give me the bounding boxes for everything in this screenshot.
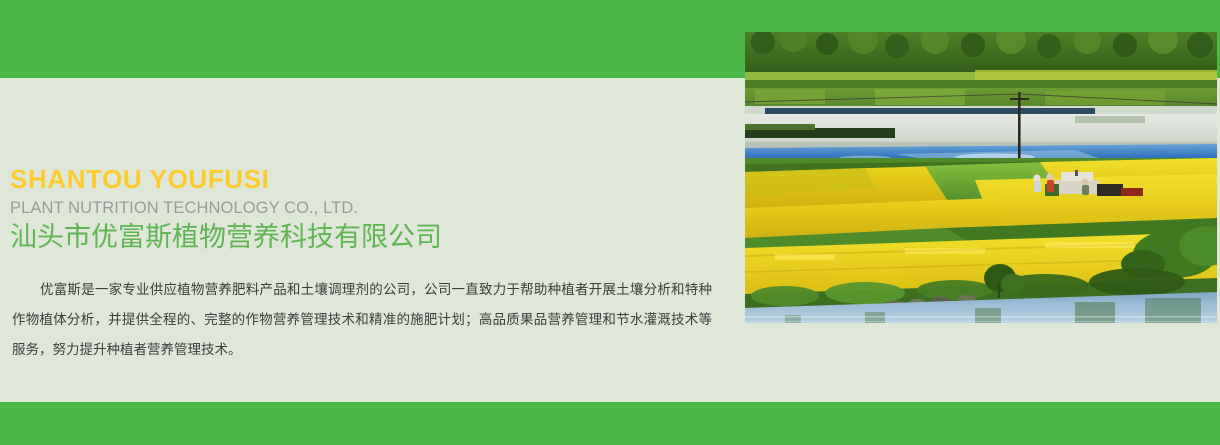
brand-block: SHANTOU YOUFUSI PLANT NUTRITION TECHNOLO… <box>10 163 720 255</box>
brand-name-en: SHANTOU YOUFUSI <box>10 163 720 195</box>
rice-paddy-illustration <box>745 32 1217 323</box>
brand-name-cn: 汕头市优富斯植物营养科技有限公司 <box>10 221 720 255</box>
company-intro-paragraph: 优富斯是一家专业供应植物营养肥料产品和土壤调理剂的公司，公司一直致力于帮助种植者… <box>12 275 712 365</box>
brand-subtitle-en: PLANT NUTRITION TECHNOLOGY CO., LTD. <box>10 197 720 219</box>
rice-paddy-field-photo <box>745 32 1217 323</box>
bottom-green-bar <box>0 402 1220 445</box>
page-root: SHANTOU YOUFUSI PLANT NUTRITION TECHNOLO… <box>0 0 1220 445</box>
